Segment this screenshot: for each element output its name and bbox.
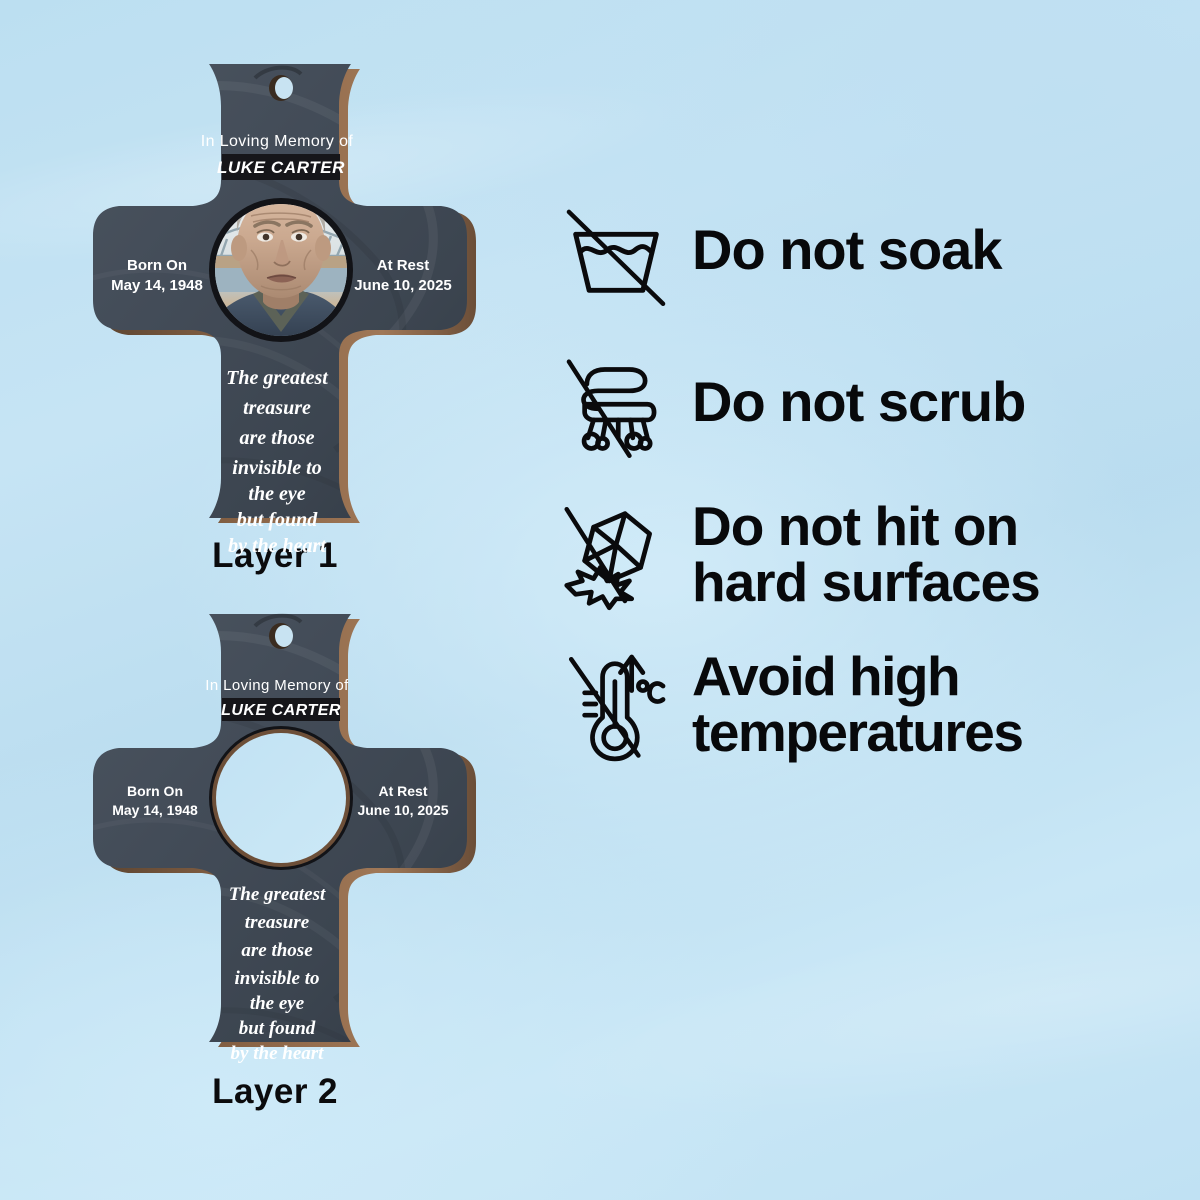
born-on-label: Born On bbox=[127, 257, 187, 274]
no-soak-icon bbox=[556, 190, 676, 310]
care-instructions-list: Do not soak bbox=[556, 190, 1186, 796]
cross-ornament-layer-1[interactable]: In Loving Memory of LUKE CARTER bbox=[75, 50, 475, 530]
quote-line-7: by the heart bbox=[228, 535, 327, 557]
care-item-do-not-hit: Do not hit on hard surfaces bbox=[556, 494, 1186, 614]
born-on-date: May 14, 1948 bbox=[111, 277, 203, 294]
at-rest-date: June 10, 2025 bbox=[354, 277, 452, 294]
product-layer-2: In Loving Memory of LUKE CARTER Born On … bbox=[75, 600, 475, 1112]
care-label-do-not-soak: Do not soak bbox=[692, 221, 1001, 278]
quote-line-2: treasure bbox=[245, 912, 310, 933]
quote-line-7: by the heart bbox=[231, 1043, 325, 1064]
care-item-do-not-scrub: Do not scrub bbox=[556, 342, 1186, 462]
no-high-temperature-icon bbox=[556, 644, 676, 764]
at-rest-label: At Rest bbox=[378, 783, 427, 799]
care-label-avoid-high-temperatures-line-2: temperatures bbox=[692, 704, 1022, 760]
deceased-name: LUKE CARTER bbox=[221, 702, 341, 719]
quote-line-3: are those bbox=[240, 427, 315, 449]
quote-line-3: are those bbox=[241, 940, 313, 961]
care-item-do-not-soak: Do not soak bbox=[556, 190, 1186, 310]
cross-stage-layer-1: In Loving Memory of LUKE CARTER bbox=[75, 50, 475, 530]
product-layer-1: In Loving Memory of LUKE CARTER bbox=[75, 50, 475, 576]
no-impact-cube-icon bbox=[556, 494, 676, 614]
quote-line-4: invisible to bbox=[235, 968, 320, 989]
in-memory-line: In Loving Memory of bbox=[201, 133, 354, 150]
at-rest-label: At Rest bbox=[377, 257, 430, 274]
care-label-avoid-high-temperatures: Avoid high temperatures bbox=[692, 648, 1022, 760]
layer-2-caption-number: 2 bbox=[318, 1072, 338, 1111]
quote-line-1: The greatest bbox=[226, 367, 329, 389]
quote-line-5: the eye bbox=[250, 993, 305, 1014]
cross-stage-layer-2: In Loving Memory of LUKE CARTER Born On … bbox=[75, 600, 475, 1050]
born-on-date: May 14, 1948 bbox=[112, 802, 198, 818]
care-label-do-not-hit-line-2: hard surfaces bbox=[692, 554, 1040, 610]
born-on-label: Born On bbox=[127, 783, 183, 799]
product-care-infographic: In Loving Memory of LUKE CARTER bbox=[0, 0, 1200, 1200]
quote-line-5: the eye bbox=[248, 483, 305, 505]
quote-line-2: treasure bbox=[243, 397, 311, 419]
deceased-name: LUKE CARTER bbox=[217, 158, 345, 177]
care-label-do-not-hit: Do not hit on hard surfaces bbox=[692, 498, 1040, 610]
care-label-do-not-scrub: Do not scrub bbox=[692, 373, 1025, 430]
in-memory-line: In Loving Memory of bbox=[205, 677, 349, 694]
name-banner: LUKE CARTER bbox=[217, 154, 345, 180]
quote-line-6: but found bbox=[237, 509, 319, 531]
quote-line-6: but found bbox=[239, 1018, 316, 1039]
layer-2-caption-word: Layer bbox=[212, 1072, 308, 1111]
name-banner: LUKE CARTER bbox=[221, 698, 341, 721]
photo-cutout-window[interactable] bbox=[209, 726, 353, 870]
no-scrub-brush-icon bbox=[556, 342, 676, 462]
at-rest-date: June 10, 2025 bbox=[357, 802, 448, 818]
quote-line-1: The greatest bbox=[229, 884, 326, 905]
quote-line-4: invisible to bbox=[232, 457, 321, 479]
care-item-avoid-high-temperatures: Avoid high temperatures bbox=[556, 644, 1186, 764]
care-label-avoid-high-temperatures-line-1: Avoid high bbox=[692, 648, 1022, 704]
cross-ornament-layer-2[interactable]: In Loving Memory of LUKE CARTER Born On … bbox=[75, 600, 475, 1050]
care-label-do-not-hit-line-1: Do not hit on bbox=[692, 498, 1040, 554]
layer-2-caption: Layer2 bbox=[75, 1072, 475, 1112]
